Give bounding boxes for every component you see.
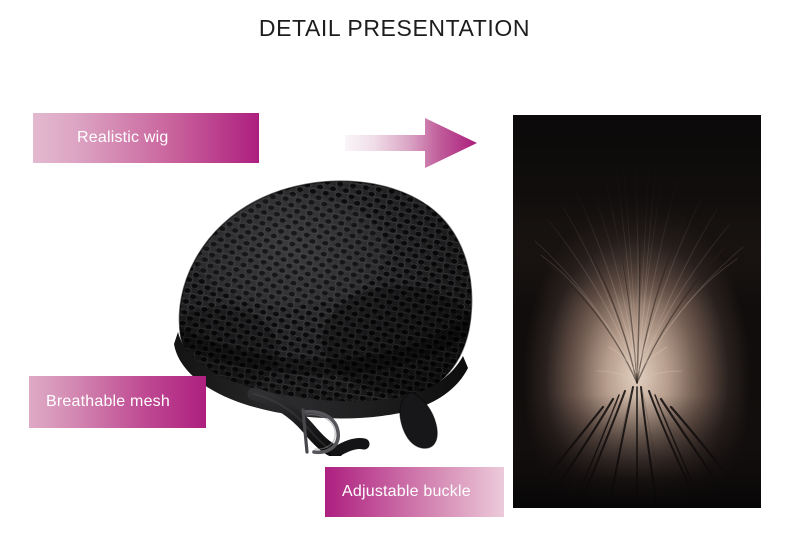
detail-presentation-page: DETAIL PRESENTATION <box>0 0 789 559</box>
label-breathable-mesh-text: Breathable mesh <box>46 393 170 411</box>
flow-arrow <box>345 118 477 168</box>
label-breathable-mesh: Breathable mesh <box>29 376 206 428</box>
arrow-right-icon <box>345 118 477 168</box>
label-adjustable-buckle: Adjustable buckle <box>325 467 504 517</box>
label-realistic-wig-text: Realistic wig <box>77 129 169 147</box>
hair-closeup-photo <box>513 115 761 508</box>
strap-tail <box>336 443 364 452</box>
hair-closeup-illustration <box>513 115 761 508</box>
label-realistic-wig: Realistic wig <box>33 113 259 163</box>
label-adjustable-buckle-text: Adjustable buckle <box>342 483 471 501</box>
page-title: DETAIL PRESENTATION <box>0 15 789 42</box>
